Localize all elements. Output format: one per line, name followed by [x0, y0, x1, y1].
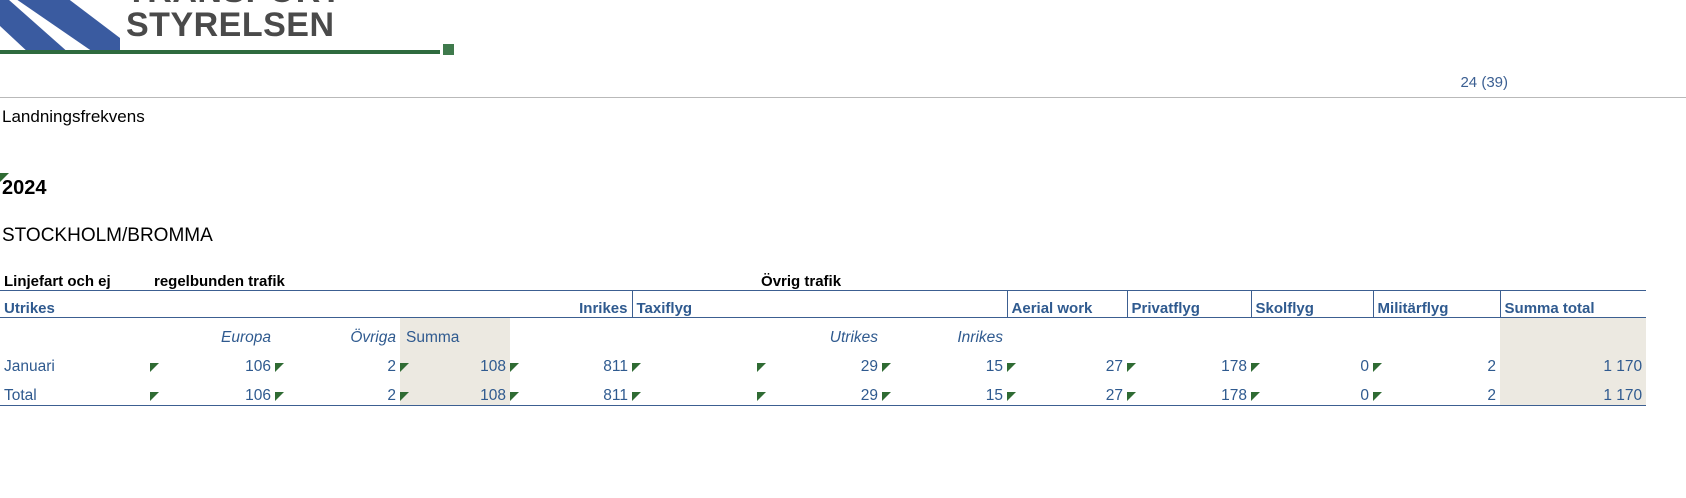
- sub-header-row: Europa Övriga Summa Utrikes Inrikes: [0, 317, 1646, 347]
- cell-januari-skolflyg[interactable]: 0: [1251, 347, 1373, 376]
- sub-header-europa: Europa: [150, 317, 275, 347]
- cell-januari-ovriga[interactable]: 2: [275, 347, 400, 376]
- column-header-skolflyg[interactable]: Skolflyg: [1251, 290, 1373, 317]
- row-label-total: Total: [0, 376, 150, 405]
- cell-total-aerial-work[interactable]: 27: [1007, 376, 1127, 405]
- cell-total-inrikes[interactable]: 811: [510, 376, 632, 405]
- airport-label: STOCKHOLM/BROMMA: [2, 225, 213, 247]
- column-header-militarflyg[interactable]: Militärflyg: [1373, 290, 1500, 317]
- cell-januari-summa[interactable]: 108: [400, 347, 510, 376]
- cell-total-militarflyg[interactable]: 2: [1373, 376, 1500, 405]
- brand-rule: [0, 50, 440, 54]
- table-row: Januari 106 2 108 811 29 15 27 178 0 2 1…: [0, 347, 1646, 376]
- sub-header-blank-5: [1251, 317, 1373, 347]
- transportstyrelsen-mark-icon: [0, 0, 120, 54]
- column-header-summa-total[interactable]: Summa total: [1500, 290, 1646, 317]
- column-header-taxiflyg[interactable]: Taxiflyg: [632, 290, 757, 317]
- group-header-row: Linjefart och ej regelbunden trafik Övri…: [0, 263, 1646, 290]
- cell-total-skolflyg[interactable]: 0: [1251, 376, 1373, 405]
- column-header-blank-2: [275, 290, 400, 317]
- cell-januari-europa[interactable]: 106: [150, 347, 275, 376]
- sub-header-blank-0: [0, 317, 150, 347]
- sub-header-blank-4: [1127, 317, 1251, 347]
- column-header-blank-1: [150, 290, 275, 317]
- cell-januari-summa-total[interactable]: 1 170: [1500, 347, 1646, 376]
- column-header-privatflyg[interactable]: Privatflyg: [1127, 290, 1251, 317]
- column-header-utrikes[interactable]: Utrikes: [0, 290, 150, 317]
- cell-januari-militarflyg[interactable]: 2: [1373, 347, 1500, 376]
- cell-januari-privatflyg[interactable]: 178: [1127, 347, 1251, 376]
- column-header-inrikes[interactable]: Inrikes: [510, 290, 632, 317]
- cell-januari-blank: [632, 347, 757, 376]
- sub-header-summa: Summa: [400, 317, 510, 347]
- page-indicator: 24 (39): [1460, 74, 1508, 91]
- cell-januari-inrikes[interactable]: 811: [510, 347, 632, 376]
- column-header-blank-3: [400, 290, 510, 317]
- sub-header-blank-2: [632, 317, 757, 347]
- cell-total-summa[interactable]: 108: [400, 376, 510, 405]
- column-header-row: Utrikes Inrikes Taxiflyg Aerial work Pri…: [0, 290, 1646, 317]
- page-title: Landningsfrekvens: [2, 107, 145, 127]
- sub-header-blank-1: [510, 317, 632, 347]
- cell-total-summa-total[interactable]: 1 170: [1500, 376, 1646, 405]
- cell-total-europa[interactable]: 106: [150, 376, 275, 405]
- group-header-linjefart-a: Linjefart och ej: [0, 263, 150, 290]
- cell-total-ovriga[interactable]: 2: [275, 376, 400, 405]
- sub-header-blank-3: [1007, 317, 1127, 347]
- group-header-linjefart-b: regelbunden trafik: [150, 263, 757, 290]
- brand-wordmark-line2: STYRELSEN: [126, 8, 342, 42]
- sub-header-taxiflyg-utrikes: Utrikes: [757, 317, 882, 347]
- sub-header-ovriga: Övriga: [275, 317, 400, 347]
- sub-header-blank-7: [1500, 317, 1646, 347]
- cell-total-taxi-utrikes[interactable]: 29: [757, 376, 882, 405]
- row-label-januari: Januari: [0, 347, 150, 376]
- cell-januari-aerial-work[interactable]: 27: [1007, 347, 1127, 376]
- group-header-ovrig: Övrig trafik: [757, 263, 1646, 290]
- cell-total-privatflyg[interactable]: 178: [1127, 376, 1251, 405]
- brand-logo: TRANSPORT STYRELSEN: [0, 0, 455, 72]
- year-label: 2024: [2, 177, 47, 200]
- sub-header-blank-6: [1373, 317, 1500, 347]
- column-header-blank-4: [757, 290, 882, 317]
- header-divider: [0, 97, 1686, 98]
- brand-wordmark: TRANSPORT STYRELSEN: [126, 0, 342, 42]
- column-header-blank-5: [882, 290, 1007, 317]
- cell-januari-taxi-inrikes[interactable]: 15: [882, 347, 1007, 376]
- landing-frequency-table: Linjefart och ej regelbunden trafik Övri…: [0, 263, 1646, 406]
- brand-rule-endcap: [443, 44, 454, 55]
- table-row: Total 106 2 108 811 29 15 27 178 0 2 1 1…: [0, 376, 1646, 405]
- column-header-aerial-work[interactable]: Aerial work: [1007, 290, 1127, 317]
- sub-header-taxiflyg-inrikes: Inrikes: [882, 317, 1007, 347]
- cell-total-blank: [632, 376, 757, 405]
- cell-total-taxi-inrikes[interactable]: 15: [882, 376, 1007, 405]
- cell-januari-taxi-utrikes[interactable]: 29: [757, 347, 882, 376]
